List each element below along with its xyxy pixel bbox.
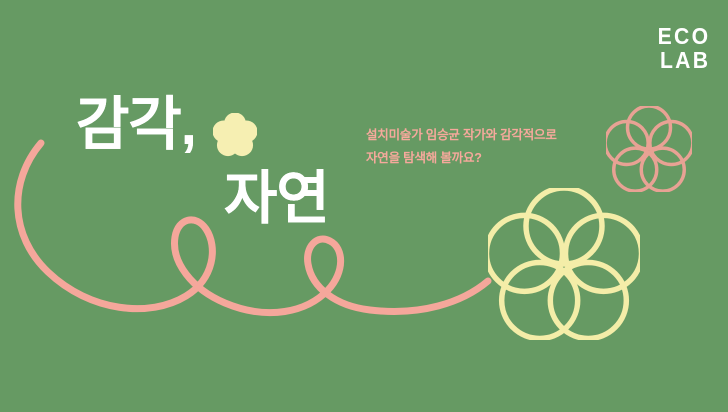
subtitle-line-1: 설치미술가 임승균 작가와 감각적으로 bbox=[366, 124, 557, 147]
photo-child-photographing-rocks bbox=[488, 188, 640, 340]
flower-accent-icon bbox=[213, 113, 257, 157]
photo-nature-bowl bbox=[606, 106, 692, 192]
title-line-1: 감각, bbox=[76, 96, 196, 154]
logo-line-eco: ECO bbox=[657, 24, 710, 48]
eco-lab-logo: ECO LAB bbox=[653, 24, 710, 72]
title-line-2: 자연 bbox=[224, 170, 329, 228]
eco-lab-promo-banner: ECO LAB 감각, 자연 설치미술가 임승균 작가와 감각적으로 자연을 탐… bbox=[0, 0, 728, 412]
subtitle-text: 설치미술가 임승균 작가와 감각적으로 자연을 탐색해 볼까요? bbox=[366, 124, 557, 170]
subtitle-line-2: 자연을 탐색해 볼까요? bbox=[366, 147, 557, 170]
logo-line-lab: LAB bbox=[657, 48, 710, 72]
